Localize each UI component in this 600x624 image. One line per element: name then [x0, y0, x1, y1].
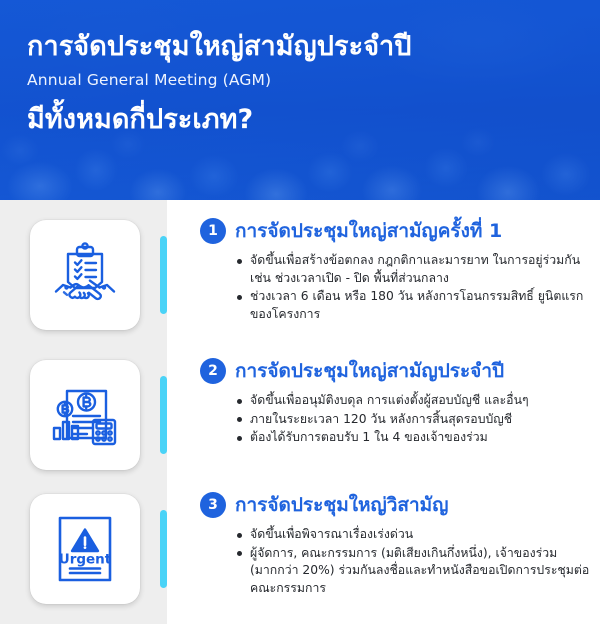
section-3-bullets: จัดขึ้นเพื่อพิจารณาเรื่องเร่งด่วน ผู้จัด…: [200, 526, 592, 597]
list-item: ภายในระยะเวลา 120 วัน หลังการสิ้นสุดรอบบ…: [237, 411, 592, 429]
header-title-english: Annual General Meeting (AGM): [27, 70, 582, 90]
rail-accent-tab-3: [160, 510, 167, 588]
icon-card-1: [30, 220, 140, 330]
section-1-number-badge: 1: [200, 218, 226, 244]
section-1: 1 การจัดประชุมใหญ่สามัญครั้งที่ 1 จัดขึ้…: [0, 200, 600, 340]
section-2-bullets: จัดขึ้นเพื่ออนุมัติงบดุล การแต่งตั้งผู้ส…: [200, 392, 592, 447]
list-item: ผู้จัดการ, คณะกรรมการ (มติเสียงเกินกึ่งห…: [237, 545, 592, 598]
urgent-document-icon: Urgent: [46, 510, 124, 588]
rail-accent-tab-1: [160, 236, 167, 314]
rail-accent-tab-2: [160, 376, 167, 454]
header-text-block: การจัดประชุมใหญ่สามัญประจำปี Annual Gene…: [27, 30, 582, 137]
handshake-clipboard-icon: [46, 236, 124, 314]
sections-list: 1 การจัดประชุมใหญ่สามัญครั้งที่ 1 จัดขึ้…: [0, 200, 600, 624]
section-1-content: 1 การจัดประชุมใหญ่สามัญครั้งที่ 1 จัดขึ้…: [200, 218, 592, 324]
section-3-heading: 3 การจัดประชุมใหญ่วิสามัญ: [200, 492, 592, 518]
header-subtitle-thai: มีทั้งหมดกี่ประเภท?: [27, 103, 582, 137]
body-area: 1 การจัดประชุมใหญ่สามัญครั้งที่ 1 จัดขึ้…: [0, 200, 600, 624]
list-item: จัดขึ้นเพื่ออนุมัติงบดุล การแต่งตั้งผู้ส…: [237, 392, 592, 410]
section-1-bullets: จัดขึ้นเพื่อสร้างข้อตกลง กฎกติกาและมารยา…: [200, 252, 592, 323]
list-item: จัดขึ้นเพื่อพิจารณาเรื่องเร่งด่วน: [237, 526, 592, 544]
list-item: ช่วงเวลา 6 เดือน หรือ 180 วัน หลังการโอน…: [237, 288, 592, 323]
header-title-thai: การจัดประชุมใหญ่สามัญประจำปี: [27, 30, 582, 64]
section-3: Urgent 3 การจัดประชุมใหญ่วิสามัญ จัดขึ้น…: [0, 474, 600, 624]
financial-report-calculator-icon: [46, 376, 124, 454]
section-2-heading: 2 การจัดประชุมใหญ่สามัญประจำปี: [200, 358, 592, 384]
section-3-title: การจัดประชุมใหญ่วิสามัญ: [235, 492, 448, 518]
infographic-page: การจัดประชุมใหญ่สามัญประจำปี Annual Gene…: [0, 0, 600, 624]
section-2-number-badge: 2: [200, 358, 226, 384]
section-2: 2 การจัดประชุมใหญ่สามัญประจำปี จัดขึ้นเพ…: [0, 340, 600, 474]
icon-card-2: [30, 360, 140, 470]
icon-card-3: Urgent: [30, 494, 140, 604]
urgent-label: Urgent: [59, 552, 112, 568]
section-1-title: การจัดประชุมใหญ่สามัญครั้งที่ 1: [235, 218, 502, 244]
list-item: ต้องได้รับการตอบรับ 1 ใน 4 ของเจ้าของร่ว…: [237, 429, 592, 447]
list-item: จัดขึ้นเพื่อสร้างข้อตกลง กฎกติกาและมารยา…: [237, 252, 592, 287]
section-3-number-badge: 3: [200, 492, 226, 518]
section-3-content: 3 การจัดประชุมใหญ่วิสามัญ จัดขึ้นเพื่อพิ…: [200, 492, 592, 598]
section-2-content: 2 การจัดประชุมใหญ่สามัญประจำปี จัดขึ้นเพ…: [200, 358, 592, 448]
header-banner: การจัดประชุมใหญ่สามัญประจำปี Annual Gene…: [0, 0, 600, 200]
section-1-heading: 1 การจัดประชุมใหญ่สามัญครั้งที่ 1: [200, 218, 592, 244]
section-2-title: การจัดประชุมใหญ่สามัญประจำปี: [235, 358, 504, 384]
